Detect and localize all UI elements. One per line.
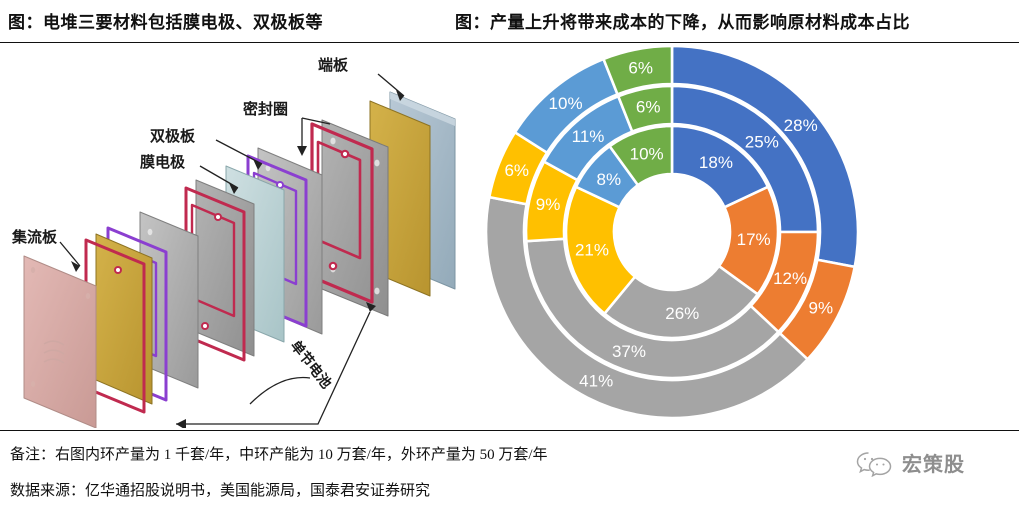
stack-illustration (0, 44, 470, 428)
donut-slice-label: 26% (665, 304, 699, 323)
donut-slice-label: 10% (549, 94, 583, 113)
donut-slice-label: 6% (628, 58, 653, 77)
label-bipolar-plate: 双极板 (150, 125, 195, 146)
donut-slice-label: 25% (745, 133, 779, 152)
donut-slice-label: 9% (809, 298, 834, 317)
donut-slice-label: 6% (636, 98, 661, 117)
fuel-cell-stack-diagram: 端板 密封圈 双极板 膜电极 集流板 单节电池 (0, 44, 470, 428)
figure-headers: 图：电堆三要材料包括膜电极、双极板等 图：产量上升将带来成本的下降，从而影响原材… (0, 0, 1019, 42)
plate-group (24, 92, 455, 428)
ring-layers (486, 46, 858, 418)
data-source-text: 数据来源：亿华通招股说明书，美国能源局，国泰君安证券研究 (10, 479, 430, 500)
donut-slice-label: 10% (630, 144, 664, 163)
donut-slice-label: 28% (784, 116, 818, 135)
watermark-text: 宏策股 (902, 448, 965, 477)
watermark: 宏策股 (855, 448, 965, 477)
figure-page: 图：电堆三要材料包括膜电极、双极板等 图：产量上升将带来成本的下降，从而影响原材… (0, 0, 1019, 513)
left-figure-title: 图：电堆三要材料包括膜电极、双极板等 (8, 8, 323, 33)
donut-slice-label: 18% (699, 153, 733, 172)
donut-slice-label: 6% (504, 161, 529, 180)
footer-divider (0, 430, 1019, 431)
label-seal-ring: 密封圈 (243, 98, 288, 119)
front-end-plate (24, 256, 96, 428)
donut-slice-label: 8% (597, 170, 622, 189)
cost-structure-donut-chart: 18%17%26%21%8%10%25%12%37%9%11%6%28%9%41… (470, 44, 1019, 428)
donut-slice-label: 11% (572, 127, 605, 146)
donut-slice-label: 17% (737, 230, 771, 249)
wechat-icon (855, 449, 895, 477)
donut-slice-label: 41% (579, 371, 613, 390)
footnote-text: 备注：右图内环产量为 1 千套/年，中环产能为 10 万套/年，外环产量为 50… (10, 443, 548, 464)
label-end-plate: 端板 (318, 54, 348, 75)
label-current-collector: 集流板 (12, 226, 57, 247)
donut-slice-label: 9% (536, 195, 561, 214)
right-figure-title: 图：产量上升将带来成本的下降，从而影响原材料成本占比 (455, 8, 910, 33)
label-membrane-electrode: 膜电极 (140, 151, 185, 172)
donut-slice-label: 37% (612, 342, 646, 361)
donut-rings: 18%17%26%21%8%10%25%12%37%9%11%6%28%9%41… (482, 42, 862, 422)
donut-slice-label: 21% (575, 240, 609, 259)
donut-slice-label: 12% (773, 269, 807, 288)
